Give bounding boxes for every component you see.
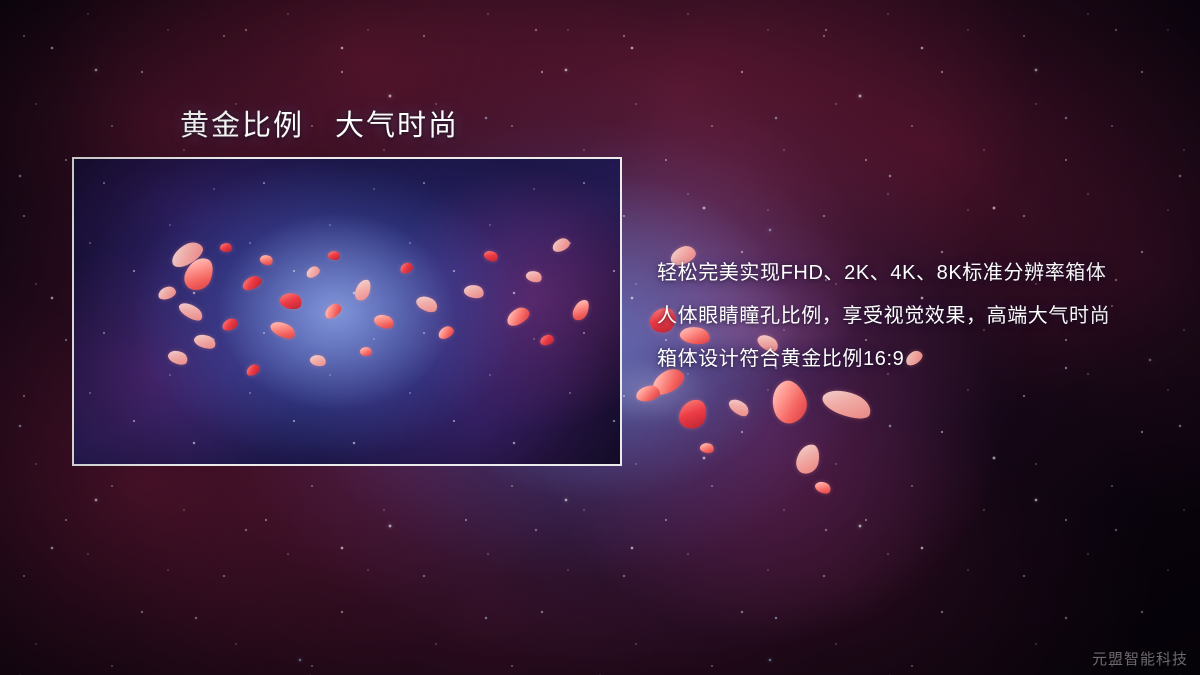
body-line-1: 轻松完美实现FHD、2K、4K、8K标准分辨率箱体 bbox=[657, 252, 1177, 295]
body-copy-block: 轻松完美实现FHD、2K、4K、8K标准分辨率箱体 人体眼睛瞳孔比例，享受视觉效… bbox=[657, 252, 1177, 381]
framed-photo bbox=[72, 157, 622, 466]
watermark: 元盟智能科技 bbox=[1092, 648, 1188, 669]
body-line-3: 箱体设计符合黄金比例16:9 bbox=[657, 338, 1177, 381]
presentation-slide: 黄金比例 大气时尚 轻松完美实现FHD、2K、4K、8K标准分辨率箱体 人体眼睛… bbox=[0, 0, 1200, 675]
page-title: 黄金比例 大气时尚 bbox=[180, 102, 459, 144]
body-line-2: 人体眼睛瞳孔比例，享受视觉效果，高端大气时尚 bbox=[657, 295, 1177, 338]
photo-starfield bbox=[74, 159, 620, 464]
